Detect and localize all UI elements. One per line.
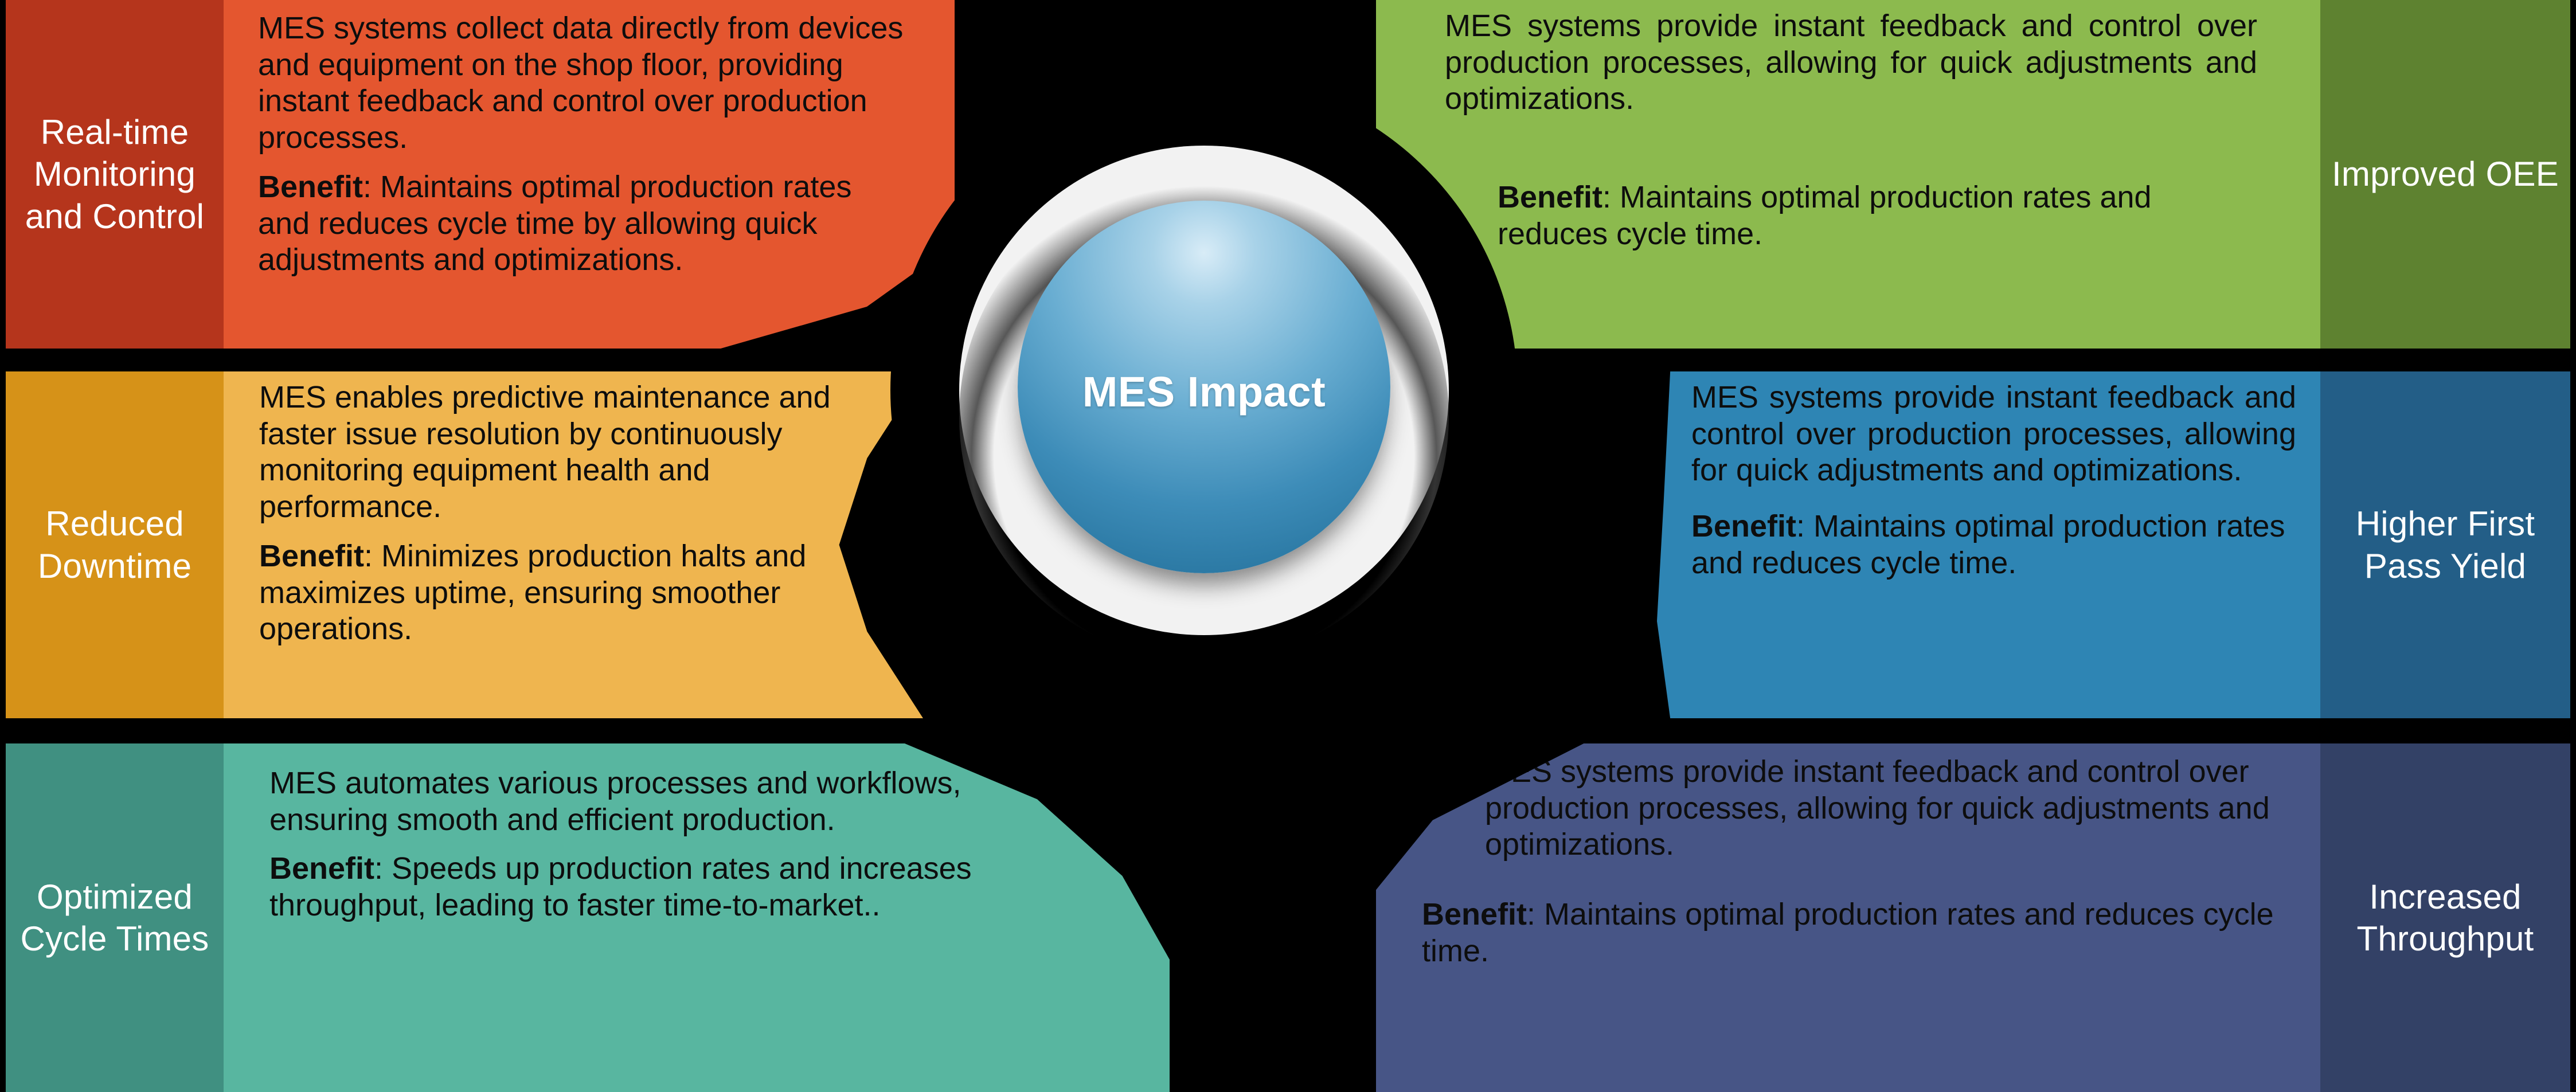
panel-label-text: Increased Throughput <box>2326 876 2565 960</box>
panel-label-text: Real-time Monitoring and Control <box>11 111 218 237</box>
benefit-text: : Speeds up production rates and increas… <box>269 851 972 922</box>
panel-body-higher-first-pass-yield: MES systems provide instant feedback and… <box>1657 371 2320 718</box>
panel-label-text: Higher First Pass Yield <box>2326 503 2565 586</box>
benefit-label: Benefit <box>269 851 374 886</box>
panel-description: MES systems provide instant feedback and… <box>1422 754 2280 863</box>
panel-label-reduced-downtime: Reduced Downtime <box>6 371 224 718</box>
panel-benefit: Benefit: Maintains optimal production ra… <box>258 169 906 279</box>
benefit-label: Benefit <box>258 170 363 204</box>
panel-label-improved-oee: Improved OEE <box>2320 0 2570 349</box>
panel-description: MES systems collect data directly from d… <box>258 10 906 156</box>
benefit-text: : Maintains optimal production rates and… <box>1422 897 2274 968</box>
panel-benefit: Benefit: Minimizes production halts and … <box>259 538 843 648</box>
panel-higher-first-pass-yield[interactable]: Higher First Pass Yield MES systems prov… <box>1657 371 2570 718</box>
center-sphere-label: MES Impact <box>1082 367 1326 416</box>
panel-description: MES enables predictive maintenance and f… <box>259 379 843 526</box>
panel-description: MES systems provide instant feedback and… <box>1691 379 2296 489</box>
panel-real-time-monitoring-and-control[interactable]: Real-time Monitoring and Control MES sys… <box>6 0 955 349</box>
panel-benefit: Benefit: Speeds up production rates and … <box>269 851 1026 923</box>
panel-benefit: Benefit: Maintains optimal production ra… <box>1691 508 2296 581</box>
benefit-label: Benefit <box>1691 509 1796 543</box>
panel-benefit: Benefit: Maintains optimal production ra… <box>1445 179 2257 252</box>
benefit-label: Benefit <box>1422 897 1527 931</box>
panel-improved-oee[interactable]: Improved OEE MES systems provide instant… <box>1376 0 2570 349</box>
panel-reduced-downtime[interactable]: Reduced Downtime MES enables predictive … <box>6 371 923 718</box>
mes-impact-diagram: Real-time Monitoring and Control MES sys… <box>0 0 2576 1092</box>
panel-body-increased-throughput: MES systems provide instant feedback and… <box>1376 743 2320 1092</box>
panel-description: MES automates various processes and work… <box>269 765 1026 838</box>
panel-body-improved-oee: MES systems provide instant feedback and… <box>1376 0 2320 349</box>
benefit-label: Benefit <box>1498 180 1602 214</box>
panel-description: MES systems provide instant feedback and… <box>1445 8 2257 118</box>
benefit-label: Benefit <box>259 539 364 573</box>
panel-benefit: Benefit: Maintains optimal production ra… <box>1422 897 2280 969</box>
panel-label-real-time-monitoring-and-control: Real-time Monitoring and Control <box>6 0 224 349</box>
panel-label-higher-first-pass-yield: Higher First Pass Yield <box>2320 371 2570 718</box>
panel-increased-throughput[interactable]: Increased Throughput MES systems provide… <box>1376 743 2570 1092</box>
panel-optimized-cycle-times[interactable]: Optimized Cycle Times MES automates vari… <box>6 743 1170 1092</box>
panel-body-optimized-cycle-times: MES automates various processes and work… <box>224 743 1170 1092</box>
panel-label-increased-throughput: Increased Throughput <box>2320 743 2570 1092</box>
panel-label-text: Reduced Downtime <box>11 503 218 586</box>
center-sphere[interactable]: MES Impact <box>1018 201 1390 573</box>
panel-body-real-time-monitoring-and-control: MES systems collect data directly from d… <box>224 0 955 349</box>
panel-body-reduced-downtime: MES enables predictive maintenance and f… <box>224 371 923 718</box>
panel-label-text: Optimized Cycle Times <box>11 876 218 960</box>
panel-label-optimized-cycle-times: Optimized Cycle Times <box>6 743 224 1092</box>
panel-label-text: Improved OEE <box>2332 153 2559 195</box>
